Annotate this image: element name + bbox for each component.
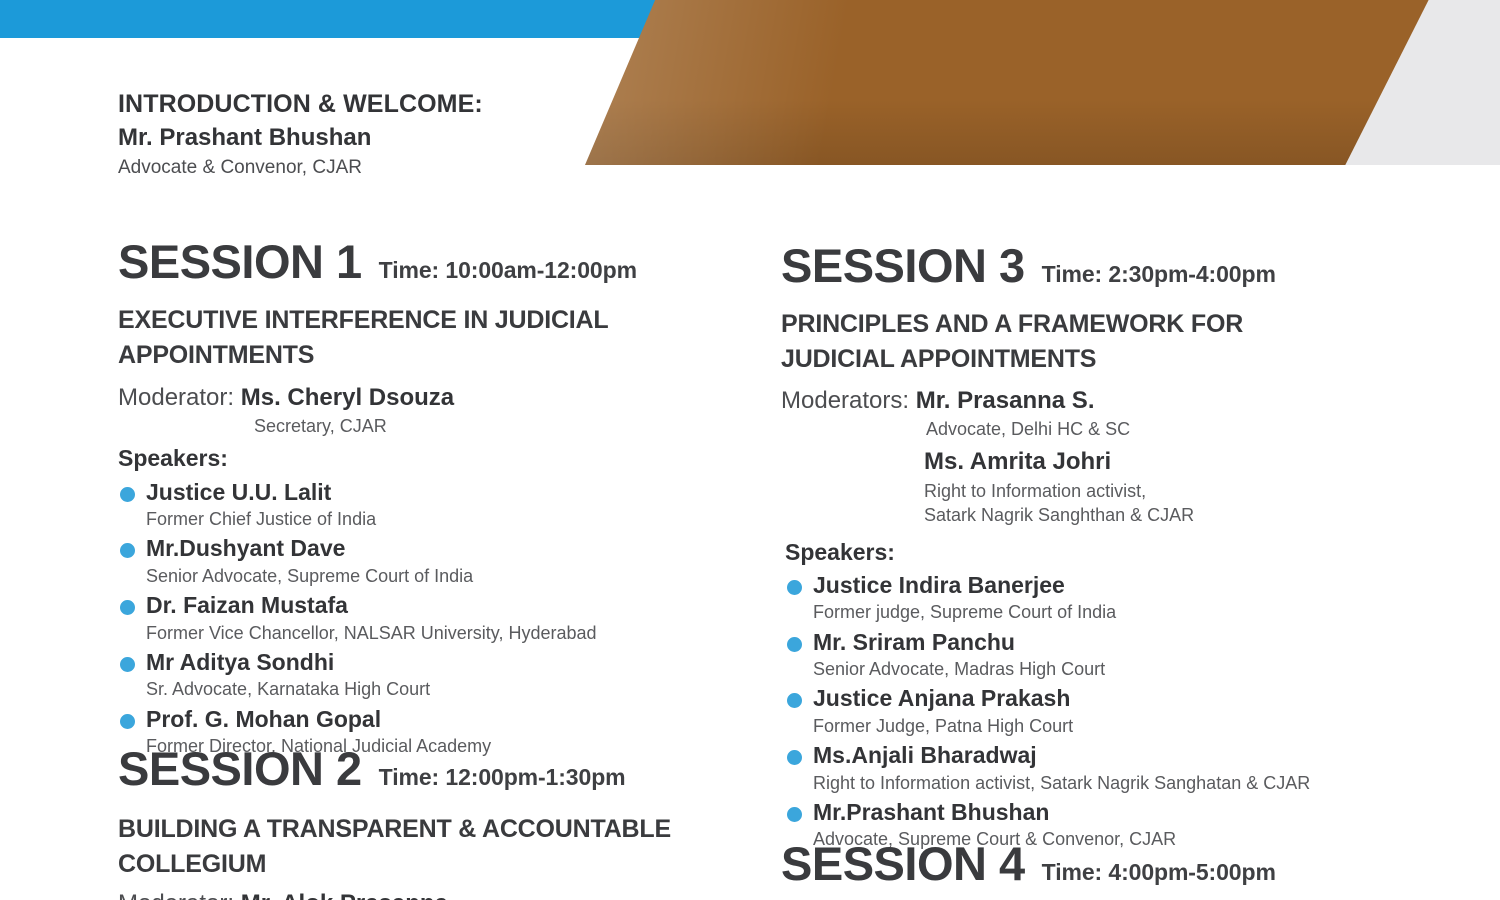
session-3-title: SESSION 3	[781, 242, 1025, 289]
session-2-time: Time: 12:00pm-1:30pm	[379, 764, 626, 791]
blue-accent-bar	[0, 0, 700, 38]
speaker-name: Justice U.U. Lalit	[146, 477, 738, 507]
bullet-dot-icon	[120, 543, 135, 558]
speaker-role: Senior Advocate, Madras High Court	[813, 657, 1341, 681]
session-2-topic: BUILDING A TRANSPARENT & ACCOUNTABLE COL…	[118, 812, 738, 881]
speaker-item: Justice U.U. Lalit Former Chief Justice …	[118, 477, 738, 532]
session-3-moderator-1-role: Advocate, Delhi HC & SC	[781, 417, 1341, 441]
session-4: SESSION 4 Time: 4:00pm-5:00pm	[781, 840, 1341, 887]
speaker-role: Sr. Advocate, Karnataka High Court	[146, 677, 738, 701]
bullet-dot-icon	[120, 657, 135, 672]
speaker-item: Mr. Sriram Panchu Senior Advocate, Madra…	[785, 627, 1341, 682]
session-3-speakers-list: Justice Indira Banerjee Former judge, Su…	[781, 570, 1341, 852]
session-3-moderator-1-name: Mr. Prasanna S.	[916, 387, 1095, 414]
session-2-moderator-line: Moderator: Mr. Alok Prasanna	[118, 887, 738, 900]
session-3-moderator-2-role: Right to Information activist, Satark Na…	[781, 479, 1341, 528]
session-4-title: SESSION 4	[781, 840, 1025, 887]
session-1-topic: EXECUTIVE INTERFERENCE IN JUDICIAL APPOI…	[118, 303, 738, 372]
speaker-item: Mr.Dushyant Dave Senior Advocate, Suprem…	[118, 533, 738, 588]
bullet-dot-icon	[787, 580, 802, 595]
bullet-dot-icon	[787, 807, 802, 822]
session-1-speakers-label: Speakers:	[118, 442, 738, 474]
session-2-moderator-label: Moderator:	[118, 890, 234, 900]
speaker-name: Justice Indira Banerjee	[813, 570, 1341, 600]
session-2: SESSION 2 Time: 12:00pm-1:30pm BUILDING …	[118, 745, 738, 900]
session-2-moderator-name: Mr. Alok Prasanna	[241, 890, 448, 900]
speaker-item: Justice Anjana Prakash Former Judge, Pat…	[785, 683, 1341, 738]
speaker-name: Mr. Sriram Panchu	[813, 627, 1341, 657]
introduction-kicker: INTRODUCTION & WELCOME:	[118, 88, 483, 121]
speaker-name: Mr Aditya Sondhi	[146, 647, 738, 677]
session-1-title: SESSION 1	[118, 238, 362, 285]
bullet-dot-icon	[787, 750, 802, 765]
agenda-page: INTRODUCTION & WELCOME: Mr. Prashant Bhu…	[0, 0, 1500, 900]
speaker-name: Mr.Dushyant Dave	[146, 533, 738, 563]
speaker-role: Former judge, Supreme Court of India	[813, 600, 1341, 624]
speaker-name: Ms.Anjali Bharadwaj	[813, 740, 1341, 770]
speaker-item: Dr. Faizan Mustafa Former Vice Chancello…	[118, 590, 738, 645]
session-3-topic: PRINCIPLES AND A FRAMEWORK FOR JUDICIAL …	[781, 307, 1341, 376]
session-1: SESSION 1 Time: 10:00am-12:00pm EXECUTIV…	[118, 238, 738, 759]
speaker-role: Senior Advocate, Supreme Court of India	[146, 564, 738, 588]
session-4-time: Time: 4:00pm-5:00pm	[1042, 859, 1276, 886]
session-1-speakers-list: Justice U.U. Lalit Former Chief Justice …	[118, 477, 738, 759]
bullet-dot-icon	[120, 600, 135, 615]
session-2-head: SESSION 2 Time: 12:00pm-1:30pm	[118, 745, 738, 792]
speaker-role: Former Judge, Patna High Court	[813, 714, 1341, 738]
bullet-dot-icon	[120, 714, 135, 729]
speaker-name: Dr. Faizan Mustafa	[146, 590, 738, 620]
session-3-time: Time: 2:30pm-4:00pm	[1042, 261, 1276, 288]
session-1-moderator-label: Moderator:	[118, 384, 234, 411]
session-2-title: SESSION 2	[118, 745, 362, 792]
speaker-item: Ms.Anjali Bharadwaj Right to Information…	[785, 740, 1341, 795]
speaker-item: Justice Indira Banerjee Former judge, Su…	[785, 570, 1341, 625]
bullet-dot-icon	[120, 487, 135, 502]
session-1-moderator-line: Moderator: Ms. Cheryl Dsouza	[118, 381, 738, 414]
session-3-moderator-2-name: Ms. Amrita Johri	[781, 445, 1341, 479]
speaker-name: Justice Anjana Prakash	[813, 683, 1341, 713]
session-1-time: Time: 10:00am-12:00pm	[379, 257, 637, 284]
speaker-role: Former Chief Justice of India	[146, 507, 738, 531]
speaker-name: Mr.Prashant Bhushan	[813, 797, 1341, 827]
speaker-role: Right to Information activist, Satark Na…	[813, 771, 1341, 795]
session-3: SESSION 3 Time: 2:30pm-4:00pm PRINCIPLES…	[781, 242, 1341, 852]
session-3-moderators-line: Moderators: Mr. Prasanna S.	[781, 384, 1341, 417]
session-3-speakers-label: Speakers:	[781, 536, 1341, 568]
session-4-head: SESSION 4 Time: 4:00pm-5:00pm	[781, 840, 1341, 887]
speaker-item: Mr Aditya Sondhi Sr. Advocate, Karnataka…	[118, 647, 738, 702]
speaker-name: Prof. G. Mohan Gopal	[146, 704, 738, 734]
introduction-speaker-name: Mr. Prashant Bhushan	[118, 121, 483, 154]
session-1-moderator-name: Ms. Cheryl Dsouza	[241, 384, 454, 411]
session-1-moderator-role: Secretary, CJAR	[118, 414, 738, 438]
bullet-dot-icon	[787, 637, 802, 652]
introduction-speaker-role: Advocate & Convenor, CJAR	[118, 154, 483, 182]
session-3-moderator-label: Moderators:	[781, 387, 909, 414]
bullet-dot-icon	[787, 693, 802, 708]
session-3-head: SESSION 3 Time: 2:30pm-4:00pm	[781, 242, 1341, 289]
gavel-photo	[585, 0, 1440, 165]
introduction-block: INTRODUCTION & WELCOME: Mr. Prashant Bhu…	[118, 88, 483, 182]
session-1-head: SESSION 1 Time: 10:00am-12:00pm	[118, 238, 738, 285]
speaker-role: Former Vice Chancellor, NALSAR Universit…	[146, 621, 738, 645]
